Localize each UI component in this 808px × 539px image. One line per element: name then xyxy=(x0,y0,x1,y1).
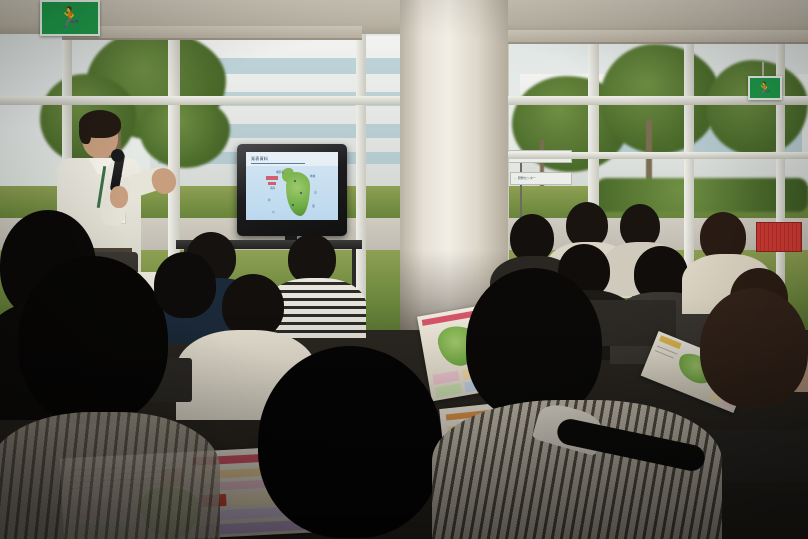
slide-point xyxy=(294,180,296,182)
foreground-shoulders-striped xyxy=(0,412,220,539)
presenter-right-hand xyxy=(110,186,128,208)
slide-title: 発表資料 xyxy=(251,156,268,162)
running-person-icon: 🏃 xyxy=(757,82,773,95)
running-person-icon: 🏃 xyxy=(58,8,83,28)
presenter-hair-side xyxy=(79,120,91,144)
brochure-info-box xyxy=(432,370,459,384)
slide-label: 海岸 xyxy=(270,186,275,190)
exit-sign-hanger xyxy=(762,62,764,76)
window-valance xyxy=(500,30,808,44)
slide-point xyxy=(300,192,302,194)
signpost-plate-bottom: ← 研修センター xyxy=(510,172,572,185)
photo-scene: ホール・レストラン → ← 研修センター 🏃 🏃 xyxy=(0,0,808,539)
slide-point xyxy=(292,204,294,206)
slide-label: 山 xyxy=(314,190,317,194)
foreground-head-silhouette xyxy=(154,252,216,318)
slide-label: 町 xyxy=(268,198,271,202)
foreground-head-silhouette xyxy=(700,288,808,408)
audience-head xyxy=(222,274,284,338)
audience-head xyxy=(510,214,554,262)
foreground-head-silhouette xyxy=(18,256,168,424)
signpost-text-bottom: ← 研修センター xyxy=(514,176,536,180)
red-crate xyxy=(756,222,802,252)
window-mullion-vertical xyxy=(356,0,366,300)
window-mullion-vertical xyxy=(776,0,785,300)
slide-label: 港 xyxy=(312,204,315,208)
presentation-monitor: 地区名 地域 海岸 山 町 港 川 発表資料 xyxy=(237,144,347,236)
slide-label: 地区名 xyxy=(276,170,284,174)
window-mullion-horizontal xyxy=(500,152,808,159)
audience-head xyxy=(288,234,336,284)
brochure-info-box xyxy=(435,383,462,397)
slide-title-rule xyxy=(251,163,305,164)
exit-sign-top-left: 🏃 xyxy=(40,0,100,36)
slide-label: 川 xyxy=(272,210,275,214)
foreground-head-silhouette xyxy=(258,346,442,538)
table-leg xyxy=(352,249,356,289)
microphone-head xyxy=(111,149,124,162)
window-valance xyxy=(62,26,362,40)
slide-marker xyxy=(268,182,276,185)
window-mullion-vertical xyxy=(684,0,694,300)
exit-sign-top-right: 🏃 xyxy=(748,76,782,100)
monitor-screen: 地区名 地域 海岸 山 町 港 川 発表資料 xyxy=(246,152,338,220)
slide-marker xyxy=(266,176,278,180)
slide-label: 地域 xyxy=(310,174,315,178)
foreground-head-silhouette xyxy=(466,268,602,420)
